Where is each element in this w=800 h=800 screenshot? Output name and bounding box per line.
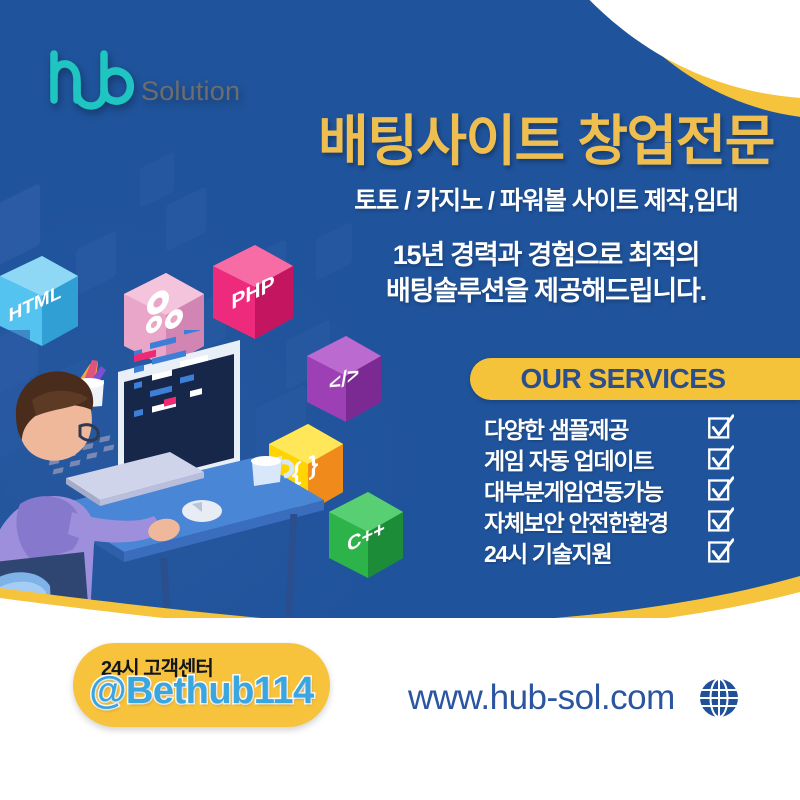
hub-logo-icon — [44, 48, 142, 110]
list-item: 24시 기술지원 — [484, 536, 734, 567]
contact-handle[interactable]: @Bethub114 — [87, 670, 316, 713]
list-item: 게임 자동 업데이트 — [484, 443, 734, 474]
list-item: 대부분게임연동가능 — [484, 474, 734, 505]
service-label: 다양한 샘플제공 — [484, 411, 628, 445]
logo-suffix-text: Solution — [141, 78, 240, 110]
services-banner-title: OUR SERVICES — [520, 363, 749, 395]
checkbox-checked-icon[interactable] — [707, 476, 734, 503]
globe-icon — [697, 676, 741, 720]
service-label: 게임 자동 업데이트 — [484, 442, 653, 476]
mouse — [182, 500, 222, 522]
website-row[interactable]: www.hub-sol.com — [408, 676, 741, 720]
hero-subtitle: 토토 / 카지노 / 파워볼 사이트 제작,임대 — [318, 181, 774, 217]
promo-banner: Solution HTML P — [0, 0, 800, 800]
checkbox-checked-icon[interactable] — [707, 507, 734, 534]
service-label: 대부분게임연동가능 — [484, 473, 663, 507]
hero-tagline: 15년 경력과 경험으로 최적의 배팅솔루션을 제공해드립니다. — [318, 238, 774, 310]
website-url[interactable]: www.hub-sol.com — [408, 678, 675, 718]
checkbox-checked-icon[interactable] — [707, 538, 734, 565]
services-list: 다양한 샘플제공 게임 자동 업데이트 대부분게임연동가능 자체보안 안전한환경 — [484, 412, 734, 567]
checkbox-checked-icon[interactable] — [707, 414, 734, 441]
hero-tagline-line2: 배팅솔루션을 제공해드립니다. — [318, 274, 774, 310]
brand-logo[interactable]: Solution — [44, 48, 240, 110]
service-label: 24시 기술지원 — [484, 535, 611, 569]
list-item: 다양한 샘플제공 — [484, 412, 734, 443]
hero-text-block: 배팅사이트 창업전문 토토 / 카지노 / 파워볼 사이트 제작,임대 15년 … — [318, 112, 774, 310]
page-title: 배팅사이트 창업전문 — [318, 112, 774, 170]
services-banner: OUR SERVICES — [470, 358, 800, 400]
service-label: 자체보안 안전한환경 — [484, 504, 668, 538]
list-item: 자체보안 안전한환경 — [484, 505, 734, 536]
contact-pill[interactable]: 24시 고객센터 @Bethub114 — [73, 643, 330, 727]
checkbox-checked-icon[interactable] — [707, 445, 734, 472]
hero-tagline-line1: 15년 경력과 경험으로 최적의 — [318, 238, 774, 274]
